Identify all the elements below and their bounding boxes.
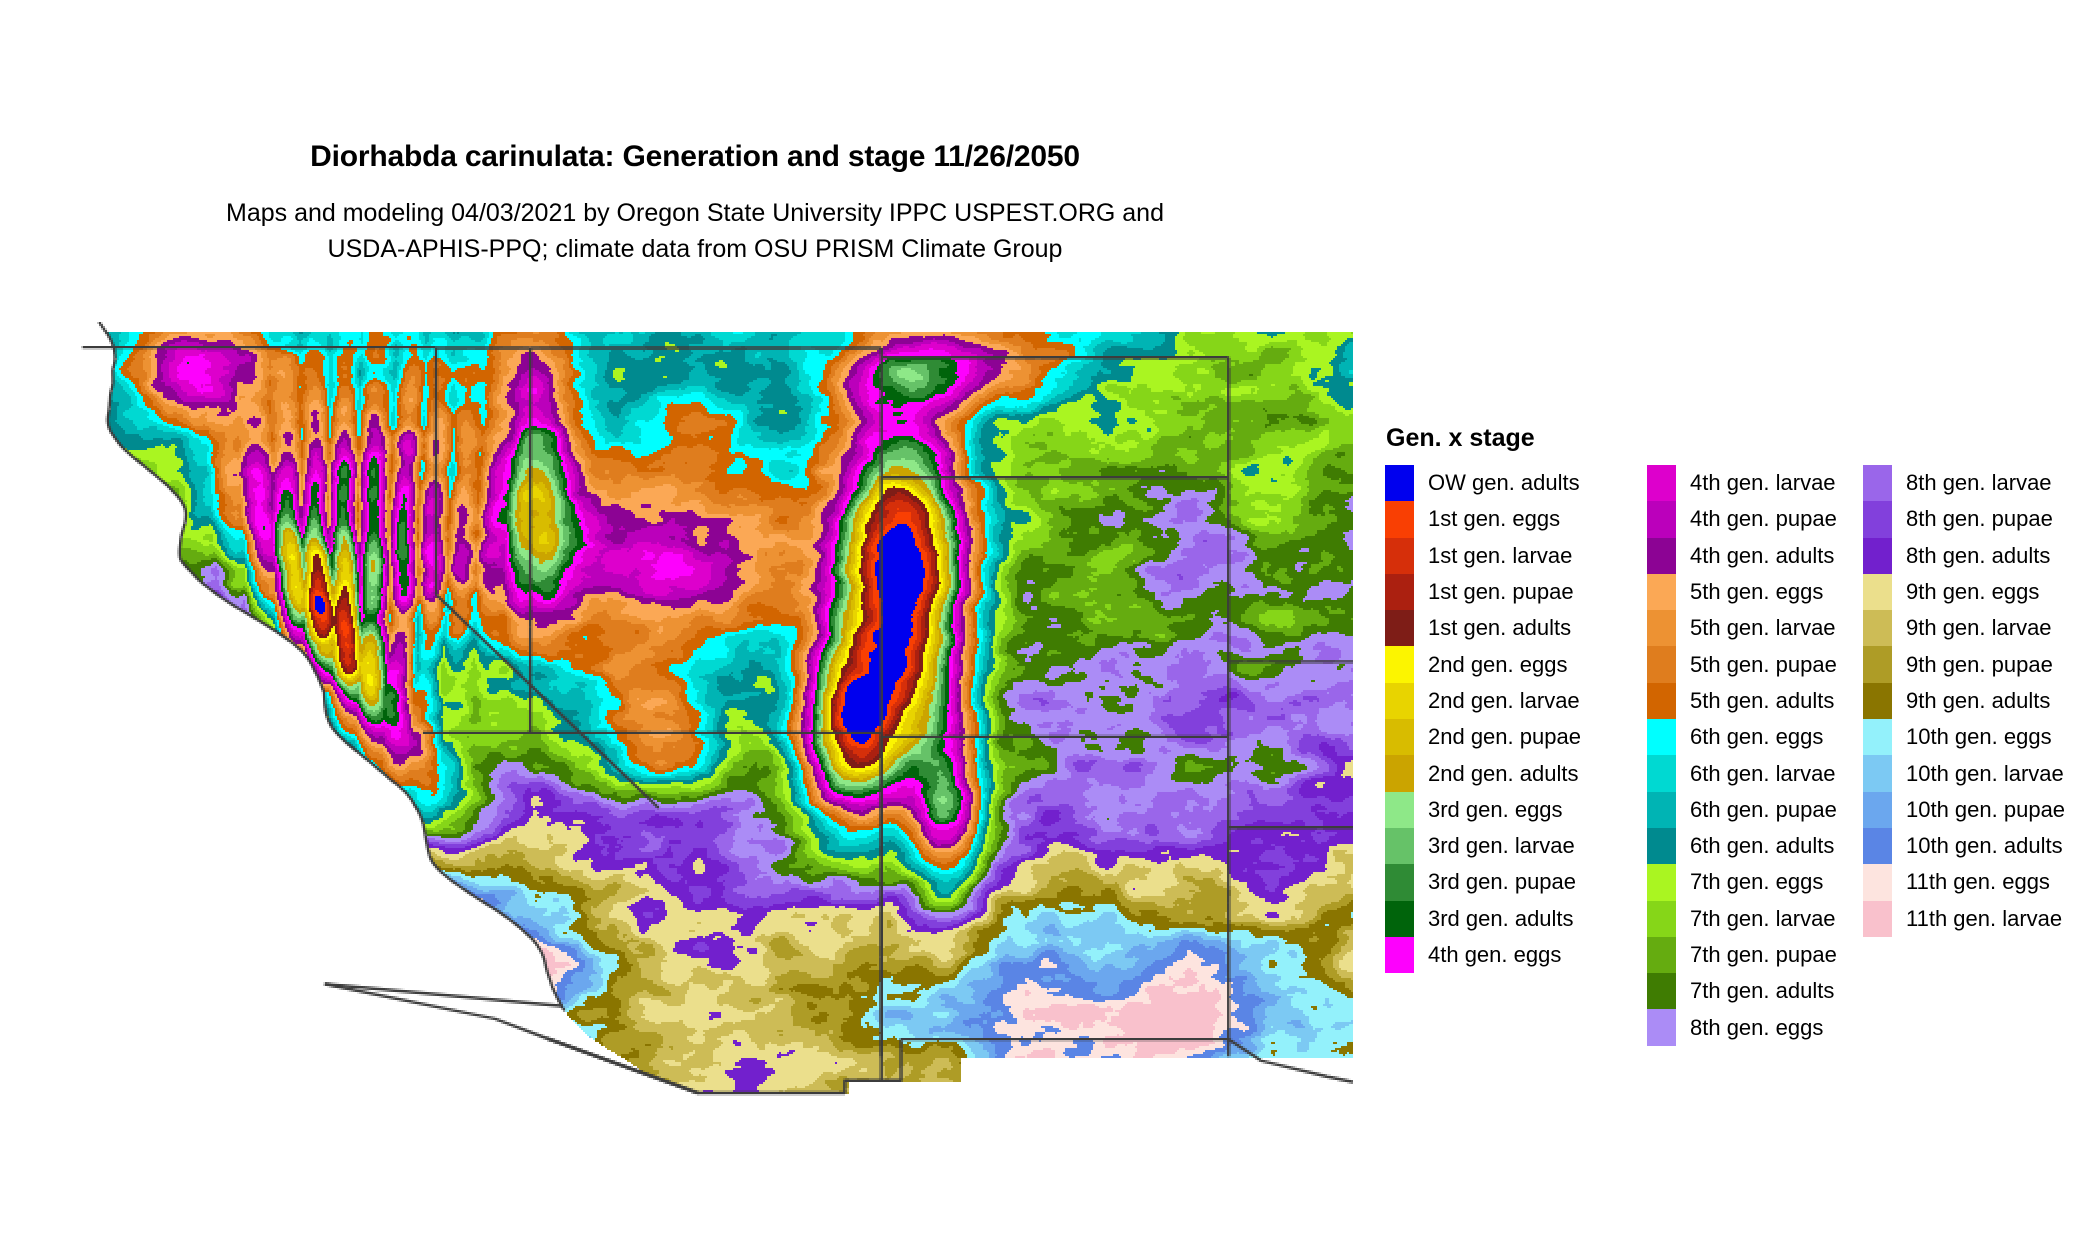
legend-color-swatch	[1863, 719, 1892, 755]
legend-item[interactable]: 9th gen. larvae	[1863, 610, 2085, 646]
legend-item-label: OW gen. adults	[1428, 472, 1580, 494]
legend-item-label: 5th gen. pupae	[1690, 654, 1837, 676]
legend-item[interactable]: 7th gen. larvae	[1647, 901, 1863, 937]
legend-item[interactable]: 1st gen. eggs	[1385, 501, 1647, 537]
legend-item-label: 11th gen. eggs	[1906, 871, 2050, 893]
legend-color-swatch	[1647, 683, 1676, 719]
legend-color-swatch	[1385, 755, 1414, 791]
legend-color-swatch	[1385, 719, 1414, 755]
legend-color-swatch	[1863, 792, 1892, 828]
legend-columns: OW gen. adults1st gen. eggs1st gen. larv…	[1385, 465, 2085, 1046]
legend-item-label: 2nd gen. pupae	[1428, 726, 1581, 748]
legend-item-label: 9th gen. larvae	[1906, 617, 2052, 639]
legend-item-label: 7th gen. pupae	[1690, 944, 1837, 966]
legend-color-swatch	[1647, 719, 1676, 755]
legend-item[interactable]: OW gen. adults	[1385, 465, 1647, 501]
legend-item-label: 1st gen. eggs	[1428, 508, 1560, 530]
legend-item[interactable]: 8th gen. larvae	[1863, 465, 2085, 501]
legend-item-label: 8th gen. larvae	[1906, 472, 2052, 494]
legend-color-swatch	[1863, 465, 1892, 501]
legend-item-label: 4th gen. larvae	[1690, 472, 1836, 494]
legend-column-2: 4th gen. larvae4th gen. pupae4th gen. ad…	[1647, 465, 1863, 1046]
legend-color-swatch	[1647, 792, 1676, 828]
legend-color-swatch	[1863, 683, 1892, 719]
legend-item[interactable]: 9th gen. eggs	[1863, 574, 2085, 610]
legend-item-label: 10th gen. adults	[1906, 835, 2063, 857]
legend-item[interactable]: 1st gen. larvae	[1385, 538, 1647, 574]
legend-item-label: 3rd gen. pupae	[1428, 871, 1576, 893]
legend-item-label: 1st gen. pupae	[1428, 581, 1574, 603]
legend-item[interactable]: 9th gen. pupae	[1863, 646, 2085, 682]
legend-color-swatch	[1385, 538, 1414, 574]
legend-item-label: 2nd gen. larvae	[1428, 690, 1580, 712]
legend-item[interactable]: 5th gen. adults	[1647, 683, 1863, 719]
legend-color-swatch	[1647, 465, 1676, 501]
legend-item-label: 3rd gen. larvae	[1428, 835, 1575, 857]
legend-color-swatch	[1863, 864, 1892, 900]
legend-item-label: 9th gen. pupae	[1906, 654, 2053, 676]
legend-item[interactable]: 8th gen. adults	[1863, 538, 2085, 574]
legend-item-label: 7th gen. adults	[1690, 980, 1834, 1002]
legend-item-label: 4th gen. eggs	[1428, 944, 1561, 966]
legend-color-swatch	[1385, 864, 1414, 900]
legend-color-swatch	[1863, 901, 1892, 937]
legend-item-label: 8th gen. adults	[1906, 545, 2050, 567]
legend-color-swatch	[1863, 574, 1892, 610]
legend-item-label: 3rd gen. eggs	[1428, 799, 1563, 821]
legend-color-swatch	[1385, 828, 1414, 864]
legend-item[interactable]: 8th gen. eggs	[1647, 1009, 1863, 1045]
legend-color-swatch	[1385, 937, 1414, 973]
title-block: Diorhabda carinulata: Generation and sta…	[0, 140, 1390, 268]
legend-color-swatch	[1647, 937, 1676, 973]
legend-item-label: 8th gen. pupae	[1906, 508, 2053, 530]
legend-item-label: 4th gen. adults	[1690, 545, 1834, 567]
legend-color-swatch	[1385, 901, 1414, 937]
legend-item-label: 2nd gen. adults	[1428, 763, 1578, 785]
legend-item[interactable]: 2nd gen. adults	[1385, 755, 1647, 791]
legend-item[interactable]: 7th gen. pupae	[1647, 937, 1863, 973]
legend: Gen. x stage OW gen. adults1st gen. eggs…	[1385, 424, 2085, 1046]
legend-item-label: 10th gen. pupae	[1906, 799, 2065, 821]
legend-color-swatch	[1647, 755, 1676, 791]
legend-item-label: 2nd gen. eggs	[1428, 654, 1567, 676]
legend-item-label: 5th gen. adults	[1690, 690, 1834, 712]
legend-item[interactable]: 3rd gen. larvae	[1385, 828, 1647, 864]
subtitle-line-1: Maps and modeling 04/03/2021 by Oregon S…	[0, 195, 1390, 231]
legend-item-label: 1st gen. adults	[1428, 617, 1571, 639]
legend-color-swatch	[1863, 828, 1892, 864]
legend-item-label: 8th gen. eggs	[1690, 1017, 1823, 1039]
legend-item[interactable]: 4th gen. eggs	[1385, 937, 1647, 973]
legend-item-label: 3rd gen. adults	[1428, 908, 1574, 930]
legend-item-label: 10th gen. larvae	[1906, 763, 2064, 785]
legend-item[interactable]: 11th gen. eggs	[1863, 864, 2085, 900]
legend-item[interactable]: 10th gen. eggs	[1863, 719, 2085, 755]
legend-item-label: 7th gen. eggs	[1690, 871, 1823, 893]
legend-item[interactable]: 7th gen. adults	[1647, 973, 1863, 1009]
legend-item-label: 11th gen. larvae	[1906, 908, 2062, 930]
legend-item[interactable]: 4th gen. larvae	[1647, 465, 1863, 501]
legend-item[interactable]: 5th gen. eggs	[1647, 574, 1863, 610]
legend-item-label: 4th gen. pupae	[1690, 508, 1837, 530]
legend-color-swatch	[1647, 501, 1676, 537]
legend-item[interactable]: 11th gen. larvae	[1863, 901, 2085, 937]
legend-color-swatch	[1647, 828, 1676, 864]
legend-item[interactable]: 2nd gen. pupae	[1385, 719, 1647, 755]
legend-color-swatch	[1385, 792, 1414, 828]
legend-color-swatch	[1647, 538, 1676, 574]
legend-item-label: 5th gen. larvae	[1690, 617, 1836, 639]
legend-color-swatch	[1863, 538, 1892, 574]
legend-item-label: 5th gen. eggs	[1690, 581, 1823, 603]
legend-item[interactable]: 10th gen. adults	[1863, 828, 2085, 864]
legend-item[interactable]: 3rd gen. eggs	[1385, 792, 1647, 828]
legend-item[interactable]: 3rd gen. pupae	[1385, 864, 1647, 900]
legend-item-label: 6th gen. adults	[1690, 835, 1834, 857]
legend-title: Gen. x stage	[1386, 424, 2085, 453]
legend-item-label: 9th gen. eggs	[1906, 581, 2039, 603]
legend-color-swatch	[1647, 864, 1676, 900]
legend-color-swatch	[1385, 574, 1414, 610]
page-subtitle: Maps and modeling 04/03/2021 by Oregon S…	[0, 195, 1390, 268]
legend-item-label: 6th gen. eggs	[1690, 726, 1823, 748]
subtitle-line-2: USDA-APHIS-PPQ; climate data from OSU PR…	[0, 231, 1390, 267]
legend-item[interactable]: 1st gen. pupae	[1385, 574, 1647, 610]
legend-color-swatch	[1385, 465, 1414, 501]
legend-color-swatch	[1385, 683, 1414, 719]
legend-item[interactable]: 5th gen. larvae	[1647, 610, 1863, 646]
legend-color-swatch	[1385, 646, 1414, 682]
legend-item-label: 7th gen. larvae	[1690, 908, 1836, 930]
legend-color-swatch	[1863, 755, 1892, 791]
legend-item[interactable]: 9th gen. adults	[1863, 683, 2085, 719]
legend-color-swatch	[1863, 646, 1892, 682]
legend-color-swatch	[1385, 610, 1414, 646]
legend-item[interactable]: 3rd gen. adults	[1385, 901, 1647, 937]
legend-column-1: OW gen. adults1st gen. eggs1st gen. larv…	[1385, 465, 1647, 973]
legend-item[interactable]: 6th gen. eggs	[1647, 719, 1863, 755]
legend-item[interactable]: 10th gen. larvae	[1863, 755, 2085, 791]
legend-color-swatch	[1647, 574, 1676, 610]
legend-item-label: 9th gen. adults	[1906, 690, 2050, 712]
legend-item[interactable]: 2nd gen. eggs	[1385, 646, 1647, 682]
legend-column-3: 8th gen. larvae8th gen. pupae8th gen. ad…	[1863, 465, 2085, 937]
legend-color-swatch	[1863, 610, 1892, 646]
legend-item-label: 1st gen. larvae	[1428, 545, 1572, 567]
legend-item[interactable]: 8th gen. pupae	[1863, 501, 2085, 537]
legend-item[interactable]: 1st gen. adults	[1385, 610, 1647, 646]
legend-color-swatch	[1647, 1009, 1676, 1045]
legend-color-swatch	[1647, 610, 1676, 646]
legend-item[interactable]: 6th gen. larvae	[1647, 755, 1863, 791]
legend-color-swatch	[1385, 501, 1414, 537]
legend-color-swatch	[1647, 901, 1676, 937]
legend-color-swatch	[1863, 501, 1892, 537]
legend-item[interactable]: 6th gen. pupae	[1647, 792, 1863, 828]
legend-item-label: 10th gen. eggs	[1906, 726, 2052, 748]
legend-color-swatch	[1647, 973, 1676, 1009]
legend-item-label: 6th gen. larvae	[1690, 763, 1836, 785]
legend-item-label: 6th gen. pupae	[1690, 799, 1837, 821]
legend-item[interactable]: 5th gen. pupae	[1647, 646, 1863, 682]
legend-item[interactable]: 10th gen. pupae	[1863, 792, 2085, 828]
legend-item[interactable]: 7th gen. eggs	[1647, 864, 1863, 900]
legend-item[interactable]: 4th gen. adults	[1647, 538, 1863, 574]
legend-item[interactable]: 2nd gen. larvae	[1385, 683, 1647, 719]
legend-item[interactable]: 4th gen. pupae	[1647, 501, 1863, 537]
page-title: Diorhabda carinulata: Generation and sta…	[0, 140, 1390, 173]
legend-color-swatch	[1647, 646, 1676, 682]
generation-stage-raster-map	[43, 322, 1353, 1112]
map-panel	[43, 322, 1353, 1112]
legend-item[interactable]: 6th gen. adults	[1647, 828, 1863, 864]
